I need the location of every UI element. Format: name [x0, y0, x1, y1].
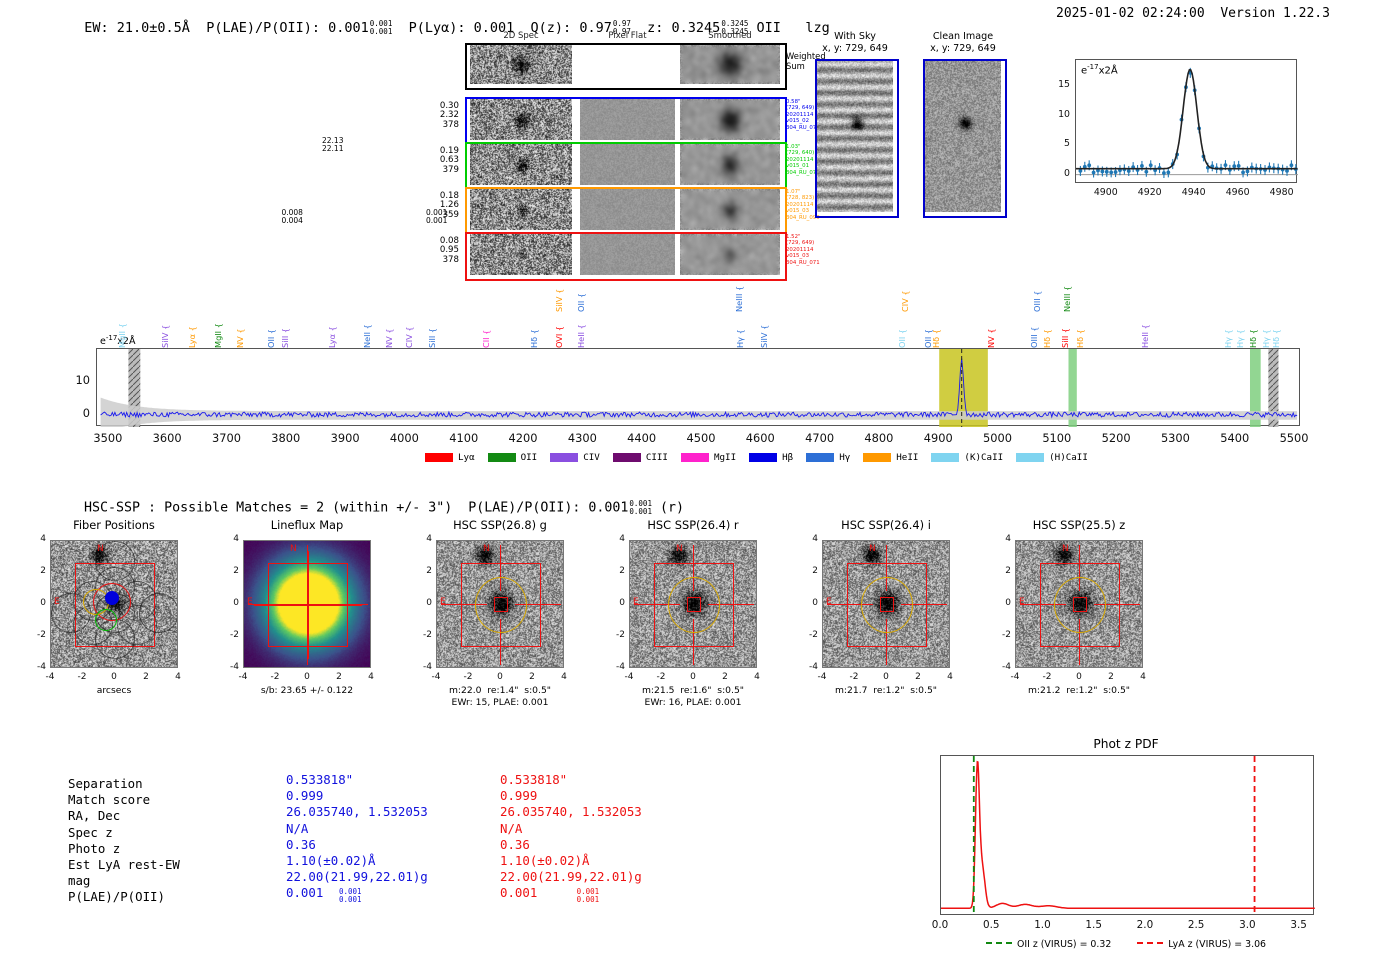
fullspec-xtick: 4000	[379, 431, 429, 445]
cutout-xtick: -2	[263, 672, 287, 682]
cutout-frame: NE	[1015, 540, 1143, 668]
timestamp-version: 2025-01-02 02:24:00 Version 1.22.3	[1056, 6, 1330, 21]
cutout-title: Lineflux Map	[217, 518, 397, 532]
sky-panel-frame	[815, 59, 899, 218]
legend-label: (H)CaII	[1049, 452, 1088, 463]
compass-north-label: N	[1062, 544, 1069, 554]
spectrum-legend-entry: Lyα	[425, 452, 475, 463]
cutout-xtick: -2	[1035, 672, 1059, 682]
fiber-left-stats: 0.18 1.26 359	[425, 192, 459, 220]
cutout-ytick: 2	[412, 566, 432, 576]
cutout-overlay: NE	[51, 541, 178, 668]
legend-label: CIV	[583, 452, 600, 463]
photz-legend-entry: OII z (VIRUS) = 0.32	[986, 939, 1111, 950]
compass-east-label: E	[247, 597, 253, 607]
spectrum-line-label: MgII {	[214, 296, 222, 348]
spectrum-line-label: OIII {	[1030, 296, 1038, 348]
fullspec-svg	[97, 349, 1301, 427]
fullspec-xtick: 4300	[557, 431, 607, 445]
header-plae-poii: P(LAE)/P(OII): 0.001	[206, 20, 369, 36]
fullspec-xtick: 5100	[1032, 431, 1082, 445]
fullspec-xtick: 3800	[261, 431, 311, 445]
cutout-ytick: 4	[26, 534, 46, 544]
cutout-title: HSC SSP(25.5) z	[989, 518, 1169, 532]
cutout-xtick: 0	[1067, 672, 1091, 682]
spectrum-line-label: Hγ {	[1224, 296, 1232, 348]
header-plae-lo: 0.001	[370, 27, 393, 36]
cutout-ytick: -4	[605, 662, 625, 672]
cutout-xtick: 0	[102, 672, 126, 682]
spectrum-line-label: Hγ {	[1236, 296, 1244, 348]
spec2d-weighted-sum-panel	[465, 43, 787, 90]
full-spectrum-plot: e-17x2Å010350036003700380039004000410042…	[0, 266, 1400, 466]
spec2d-fiber-panel	[465, 97, 787, 146]
cutout-overlay: NE	[630, 541, 757, 668]
cutout-xtick: 2	[713, 672, 737, 682]
sky-panel-title: With Sky x, y: 729, 649	[797, 31, 913, 54]
spectrum-line-label: CIV {	[405, 296, 413, 348]
photz-svg	[941, 756, 1315, 916]
match-table-labels: Separation Match score RA, Dec Spec z Ph…	[68, 776, 180, 906]
cutout-caption: arcsecs	[9, 685, 219, 697]
fullspec-xtick: 3900	[320, 431, 370, 445]
cutout-xtick: -2	[649, 672, 673, 682]
spectrum-line-label: OII {	[577, 268, 585, 312]
fiber-center-marker	[105, 591, 119, 605]
cutout-xtick: -4	[810, 672, 834, 682]
match-table-blue-column: 0.533818" 0.999 26.035740, 1.532053 N/A …	[286, 772, 428, 902]
fiber-2dspec-image	[470, 189, 572, 234]
cutout-xtick: -4	[1003, 672, 1027, 682]
linefit-xtick: 4960	[1222, 187, 1254, 198]
legend-label: CIII	[646, 452, 668, 463]
spectrum-legend-entry: (K)CaII	[931, 452, 1003, 463]
crosshair-horizontal	[254, 604, 362, 606]
cutout-frame: NE	[629, 540, 757, 668]
spectrum-line-label: Hδ {	[1249, 296, 1257, 348]
spectrum-line-label: Hδ {	[530, 296, 538, 348]
photz-legend-label: LyA z (VIRUS) = 3.06	[1168, 939, 1266, 950]
cutout-frame: NE	[822, 540, 950, 668]
cutout-frame: NE	[436, 540, 564, 668]
legend-label: Lyα	[458, 452, 475, 463]
spec2d-column-title: Pixel Flat	[604, 31, 652, 41]
linefit-ytick: 10	[1041, 109, 1070, 120]
fullspec-xtick: 4900	[913, 431, 963, 445]
cutout-ytick: 0	[605, 598, 625, 608]
spec2d-column-title: 2D Spec	[497, 31, 545, 41]
cutout-overlay: NE	[244, 541, 371, 668]
legend-swatch	[863, 453, 891, 462]
fullspec-xtick: 4600	[735, 431, 785, 445]
cutout-ytick: -4	[798, 662, 818, 672]
spec2d-fiber-panel	[465, 187, 787, 236]
cutout-ytick: 2	[219, 566, 239, 576]
cutout-xtick: 2	[327, 672, 351, 682]
cutout-ytick: 2	[991, 566, 1011, 576]
compass-north-label: N	[869, 544, 876, 554]
cutout-ytick: -4	[991, 662, 1011, 672]
cutout-ytick: -2	[412, 630, 432, 640]
legend-label: Hγ	[839, 452, 850, 463]
sky-panel-title: Clean Image x, y: 729, 649	[905, 31, 1021, 54]
cutout-panel-group: Fiber PositionsNE-4-2024-4-2024arcsecsLi…	[0, 518, 1400, 733]
fiber-pixelflat-image	[580, 99, 675, 144]
fiber-smoothed-image	[680, 99, 780, 144]
info-superscripts: 22.1322.110.0080.0040.0010.001	[0, 0, 67, 19]
legend-label: Hβ	[782, 452, 793, 463]
cutout-xtick: 0	[488, 672, 512, 682]
cutout-ytick: 2	[798, 566, 818, 576]
compass-east-label: E	[1019, 597, 1025, 607]
compass-east-label: E	[633, 597, 639, 607]
cutout-frame: NE	[50, 540, 178, 668]
spectrum-legend-entry: OII	[488, 452, 538, 463]
fiber-tertiary-circle	[95, 609, 117, 631]
photz-xtick: 2.0	[1127, 919, 1163, 931]
spectrum-legend-entry: Hγ	[806, 452, 850, 463]
cutout-xtick: 0	[874, 672, 898, 682]
compass-north-label: N	[290, 544, 297, 554]
linefit-svg	[1076, 60, 1298, 184]
emission-line-fit-plot: e-17x2Å49004920494049604980051015	[1041, 55, 1303, 205]
cutout-ytick: 4	[219, 534, 239, 544]
table-plae-fraction: 0.0010.001	[339, 888, 362, 903]
spectrum-legend-entry: MgII	[681, 452, 736, 463]
source-marker	[687, 597, 701, 612]
cutout-xtick: 2	[134, 672, 158, 682]
cutout-ytick: 2	[605, 566, 625, 576]
fiber-pixelflat-image	[580, 144, 675, 189]
photz-pdf-plot: Phot z PDF 0.00.51.01.52.02.53.03.5OII z…	[934, 737, 1318, 945]
fiber-2dspec-image	[470, 99, 572, 144]
cutout-ytick: 4	[605, 534, 625, 544]
spec2d-column-title: Smoothed	[706, 31, 754, 41]
fiber-pixelflat-image	[580, 189, 675, 234]
legend-swatch	[1016, 453, 1044, 462]
cutout-ytick: -4	[219, 662, 239, 672]
legend-label: (K)CaII	[964, 452, 1003, 463]
cutout-ytick: 4	[798, 534, 818, 544]
spectrum-line-label: NV {	[236, 296, 244, 348]
cutout-ytick: -2	[798, 630, 818, 640]
fullspec-xtick: 4100	[439, 431, 489, 445]
spectrum-line-label: OII {	[898, 296, 906, 348]
spec2d-2dspec-image	[470, 45, 572, 88]
spectrum-line-label: NV {	[385, 296, 393, 348]
cutout-xtick: 4	[552, 672, 576, 682]
spectrum-line-label: SiII {	[428, 296, 436, 348]
photz-xtick: 1.5	[1076, 919, 1112, 931]
sky-panel-frame	[923, 59, 1007, 218]
fiber-left-stats: 0.19 0.63 379	[425, 147, 459, 175]
spectrum-line-label: SiIV {	[161, 296, 169, 348]
fullspec-xtick: 5500	[1269, 431, 1319, 445]
legend-swatch	[931, 453, 959, 462]
cutout-xtick: -4	[231, 672, 255, 682]
cutout-title: HSC SSP(26.4) r	[603, 518, 783, 532]
fullspec-xtick: 4200	[498, 431, 548, 445]
fullspec-xtick: 5200	[1091, 431, 1141, 445]
spectrum-line-label: NV {	[987, 296, 995, 348]
match-table-red-column: 0.533818" 0.999 26.035740, 1.532053 N/A …	[500, 772, 642, 902]
photz-legend: OII z (VIRUS) = 0.32LyA z (VIRUS) = 3.06	[934, 939, 1318, 950]
linefit-units-label: e-17x2Å	[1081, 63, 1118, 76]
sky-image-panels: With Sky x, y: 729, 649Clean Image x, y:…	[815, 31, 1030, 261]
spectrum-line-label: Hδ {	[1043, 296, 1051, 348]
cutout-xtick: 0	[295, 672, 319, 682]
cutout-xtick: 0	[681, 672, 705, 682]
cutout-xtick: -2	[842, 672, 866, 682]
cutout-xtick: 4	[359, 672, 383, 682]
fullspec-xtick: 4400	[617, 431, 667, 445]
photz-xtick: 3.5	[1281, 919, 1317, 931]
spectrum-line-label: MgII {	[118, 296, 126, 348]
legend-swatch	[681, 453, 709, 462]
compass-east-label: E	[826, 597, 832, 607]
legend-swatch	[613, 453, 641, 462]
fullspec-xtick: 4500	[676, 431, 726, 445]
fiber-left-stats: 0.30 2.32 378	[425, 102, 459, 130]
cutout-xtick: 4	[166, 672, 190, 682]
cutout-ytick: -2	[26, 630, 46, 640]
photz-legend-entry: LyA z (VIRUS) = 3.06	[1137, 939, 1266, 950]
compass-north-label: N	[97, 544, 104, 554]
spectrum-line-label: Hδ {	[932, 296, 940, 348]
fullspec-xtick: 5400	[1210, 431, 1260, 445]
cutout-xtick: -4	[617, 672, 641, 682]
hsc-header-text: HSC-SSP : Possible Matches = 2 (within +…	[84, 501, 628, 516]
cutout-overlay: NE	[823, 541, 950, 668]
cutout-title: HSC SSP(26.8) g	[410, 518, 590, 532]
header-ew: EW: 21.0±0.5Å	[84, 20, 190, 36]
cutout-xtick: -4	[38, 672, 62, 682]
cutout-title: HSC SSP(26.4) i	[796, 518, 976, 532]
spectrum-line-label: Hδ {	[1272, 296, 1280, 348]
fullspec-xtick: 4800	[854, 431, 904, 445]
cutout-ytick: 0	[991, 598, 1011, 608]
cutout-ytick: -2	[991, 630, 1011, 640]
cutout-caption: m:21.5 re:1.6" s:0.5" EWr: 16, PLAE: 0.0…	[588, 685, 798, 709]
hsc-header-lo: 0.001	[629, 507, 652, 516]
spectrum-legend-entry: Hβ	[749, 452, 793, 463]
cutout-xtick: -2	[70, 672, 94, 682]
cutout-caption: m:22.0 re:1.4" s:0.5" EWr: 15, PLAE: 0.0…	[395, 685, 605, 709]
linefit-xtick: 4980	[1266, 187, 1298, 198]
source-marker	[494, 597, 508, 612]
info-fraction: 22.1322.11	[322, 137, 343, 152]
legend-swatch	[749, 453, 777, 462]
fiber-smoothed-image	[680, 144, 780, 189]
spectrum-line-label: OII {	[267, 296, 275, 348]
spectrum-line-legend: LyαOIICIVCIIIMgIIHβHγHeII(K)CaII(H)CaII	[425, 452, 1101, 463]
compass-east-label: E	[54, 597, 60, 607]
spectrum-line-label: CII {	[482, 296, 490, 348]
spectrum-line-label: HeII {	[1141, 296, 1149, 348]
cutout-xtick: 2	[520, 672, 544, 682]
spectrum-legend-entry: CIV	[550, 452, 600, 463]
legend-label: MgII	[714, 452, 736, 463]
spec2d-smoothed-image	[680, 45, 780, 88]
fiber-left-stats: 0.08 0.95 378	[425, 237, 459, 265]
spectrum-legend-entry: HeII	[863, 452, 918, 463]
cutout-ytick: -4	[412, 662, 432, 672]
spectrum-line-label: SiII {	[281, 296, 289, 348]
cutout-ytick: 0	[412, 598, 432, 608]
fullspec-xtick: 3700	[201, 431, 251, 445]
spec2d-fiber-panel	[465, 142, 787, 191]
cutout-xtick: 4	[938, 672, 962, 682]
spectrum-legend-entry: (H)CaII	[1016, 452, 1088, 463]
linefit-xtick: 4940	[1178, 187, 1210, 198]
cutout-frame: NE	[243, 540, 371, 668]
fiber-circle	[139, 593, 178, 633]
cutout-overlay: NE	[1016, 541, 1143, 668]
photz-legend-label: OII z (VIRUS) = 0.32	[1017, 939, 1111, 950]
source-marker	[1073, 597, 1087, 612]
hsc-header-tail: (r)	[660, 501, 684, 516]
cutout-overlay: NE	[437, 541, 564, 668]
fullspec-ytick: 0	[56, 406, 90, 420]
legend-swatch	[806, 453, 834, 462]
spectrum-line-label: SiIV {	[555, 268, 563, 312]
fullspec-xtick: 4700	[795, 431, 845, 445]
info-fraction: 0.0080.004	[281, 209, 302, 224]
cutout-ytick: -2	[219, 630, 239, 640]
photz-xtick: 3.0	[1229, 919, 1265, 931]
fullspec-xtick: 5300	[1150, 431, 1200, 445]
legend-swatch	[425, 453, 453, 462]
linefit-ytick: 0	[1041, 168, 1070, 179]
cutout-ytick: 4	[412, 534, 432, 544]
linefit-ytick: 5	[1041, 138, 1070, 149]
spectrum-legend-entry: CIII	[613, 452, 668, 463]
fiber-smoothed-image	[680, 189, 780, 234]
legend-label: HeII	[896, 452, 918, 463]
cutout-ytick: -2	[605, 630, 625, 640]
cutout-xtick: 2	[1099, 672, 1123, 682]
legend-label: OII	[521, 452, 538, 463]
cutout-xtick: 2	[906, 672, 930, 682]
photz-xtick: 0.0	[922, 919, 958, 931]
photz-axes	[940, 755, 1314, 915]
cutout-caption: s/b: 23.65 +/- 0.122	[202, 685, 412, 697]
cutout-xtick: -4	[424, 672, 448, 682]
spectrum-line-label: Lyα {	[188, 296, 196, 348]
spectrum-line-label: Hγ {	[1262, 296, 1270, 348]
linefit-xtick: 4920	[1134, 187, 1166, 198]
photz-title: Phot z PDF	[934, 737, 1318, 751]
cutout-xtick: 4	[1131, 672, 1155, 682]
legend-swatch	[488, 453, 516, 462]
photz-legend-dash	[1137, 942, 1163, 944]
photz-xtick: 1.0	[1024, 919, 1060, 931]
fullspec-xtick: 3500	[83, 431, 133, 445]
fullspec-ytick: 10	[56, 373, 90, 387]
spectrum-line-label: NeII {	[363, 296, 371, 348]
compass-north-label: N	[483, 544, 490, 554]
linefit-axes	[1075, 59, 1297, 183]
cutout-caption: m:21.7 re:1.2" s:0.5"	[781, 685, 991, 697]
fiber-2dspec-image	[470, 144, 572, 189]
hsc-ssp-header: HSC-SSP : Possible Matches = 2 (within +…	[68, 485, 684, 516]
legend-swatch	[550, 453, 578, 462]
spec2d-panel-group: 2D SpecPixel FlatSmoothedWeighted Sum0.3…	[425, 31, 785, 263]
spectrum-line-label: SiII {	[1061, 296, 1069, 348]
photz-xtick: 0.5	[973, 919, 1009, 931]
spectrum-line-label: NeIII {	[735, 268, 743, 312]
cutout-ytick: 0	[219, 598, 239, 608]
photz-legend-dash	[986, 942, 1012, 944]
cutout-title: Fiber Positions	[24, 518, 204, 532]
cutout-xtick: -2	[456, 672, 480, 682]
cutout-ytick: 0	[798, 598, 818, 608]
fullspec-xtick: 3600	[142, 431, 192, 445]
photz-xtick: 2.5	[1178, 919, 1214, 931]
cutout-xtick: 4	[745, 672, 769, 682]
fullspec-xtick: 5000	[973, 431, 1023, 445]
cutout-ytick: 0	[26, 598, 46, 608]
cutout-caption: m:21.2 re:1.2" s:0.5"	[974, 685, 1184, 697]
compass-north-label: N	[676, 544, 683, 554]
cutout-ytick: 2	[26, 566, 46, 576]
compass-east-label: E	[440, 597, 446, 607]
source-marker	[880, 597, 894, 612]
spectrum-line-label: SiIV {	[760, 296, 768, 348]
match-table: Separation Match score RA, Dec Spec z Ph…	[68, 772, 115, 788]
cutout-ytick: 4	[991, 534, 1011, 544]
spectrum-line-label: Hδ {	[1076, 296, 1084, 348]
linefit-xtick: 4900	[1090, 187, 1122, 198]
spectrum-line-label: Lyα {	[328, 296, 336, 348]
linefit-ytick: 15	[1041, 79, 1070, 90]
fullspec-axes	[96, 348, 1300, 426]
table-plae-fraction: 0.0010.001	[577, 888, 600, 903]
cutout-ytick: -4	[26, 662, 46, 672]
